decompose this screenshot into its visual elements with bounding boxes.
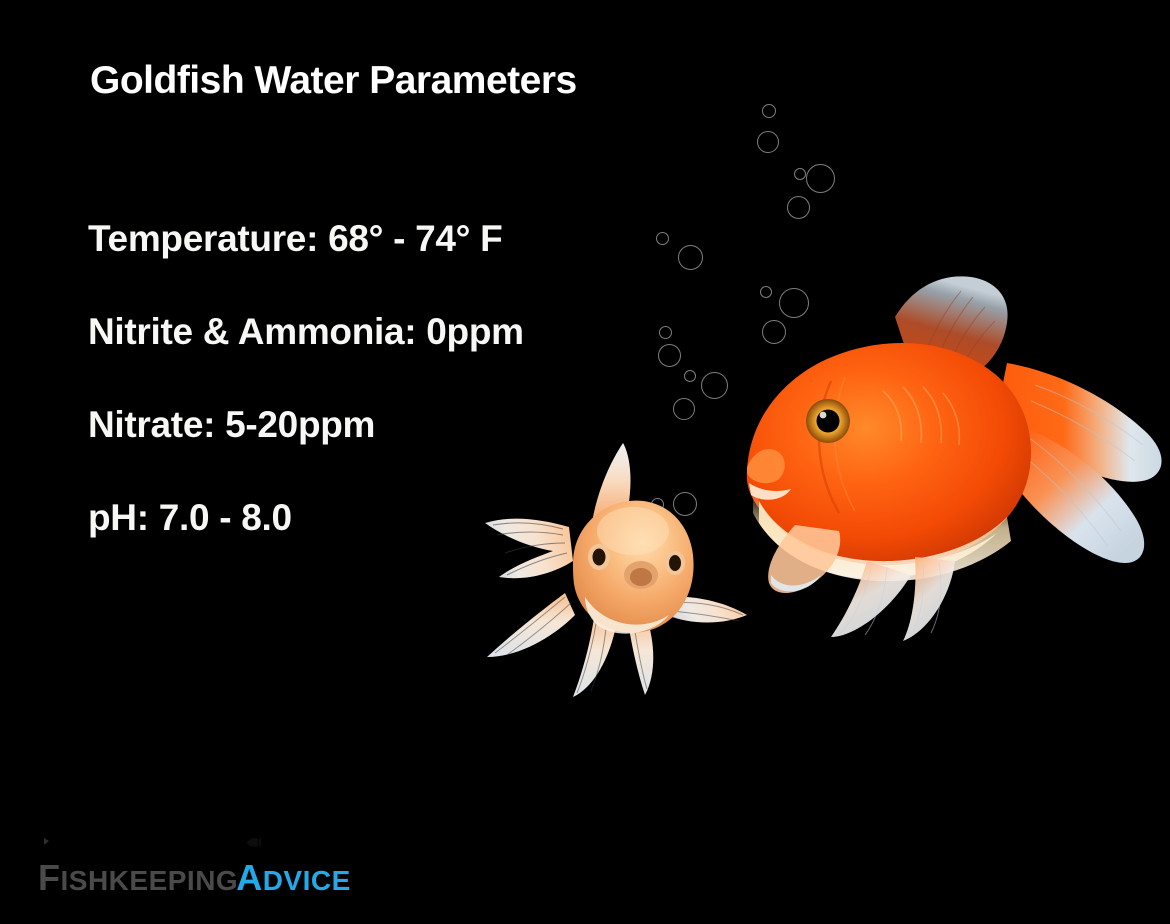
- bubble: [757, 131, 779, 153]
- logo-letter-f: F: [38, 857, 61, 898]
- logo-word-advice: ADVICE: [236, 860, 351, 896]
- parameter-nitrite-ammonia: Nitrite & Ammonia: 0ppm: [88, 313, 708, 350]
- site-logo[interactable]: FISHKEEPING ADVICE: [38, 860, 351, 896]
- parameter-list: Temperature: 68° - 74° F Nitrite & Ammon…: [88, 220, 708, 536]
- bubble: [787, 196, 810, 219]
- logo-text-ishkeeping: ISHKEEPING: [61, 865, 239, 896]
- page-title: Goldfish Water Parameters: [90, 60, 708, 103]
- logo-word-fishkeeping: FISHKEEPING: [38, 860, 238, 896]
- bubble: [794, 168, 806, 180]
- parameter-temperature: Temperature: 68° - 74° F: [88, 220, 708, 257]
- infographic-canvas: Goldfish Water Parameters Temperature: 6…: [0, 0, 1170, 924]
- logo-text-dvice: DVICE: [263, 865, 351, 896]
- fish-silhouette-icon: [245, 835, 261, 849]
- bubble: [762, 104, 776, 118]
- parameter-ph: pH: 7.0 - 8.0: [88, 499, 708, 536]
- parameter-text-block: Goldfish Water Parameters Temperature: 6…: [88, 60, 708, 103]
- parameter-nitrate: Nitrate: 5-20ppm: [88, 406, 708, 443]
- goldfish-large-image: [735, 245, 1170, 645]
- fish-notch-icon: [43, 836, 54, 847]
- logo-letter-a: A: [236, 857, 263, 898]
- bubble: [806, 164, 835, 193]
